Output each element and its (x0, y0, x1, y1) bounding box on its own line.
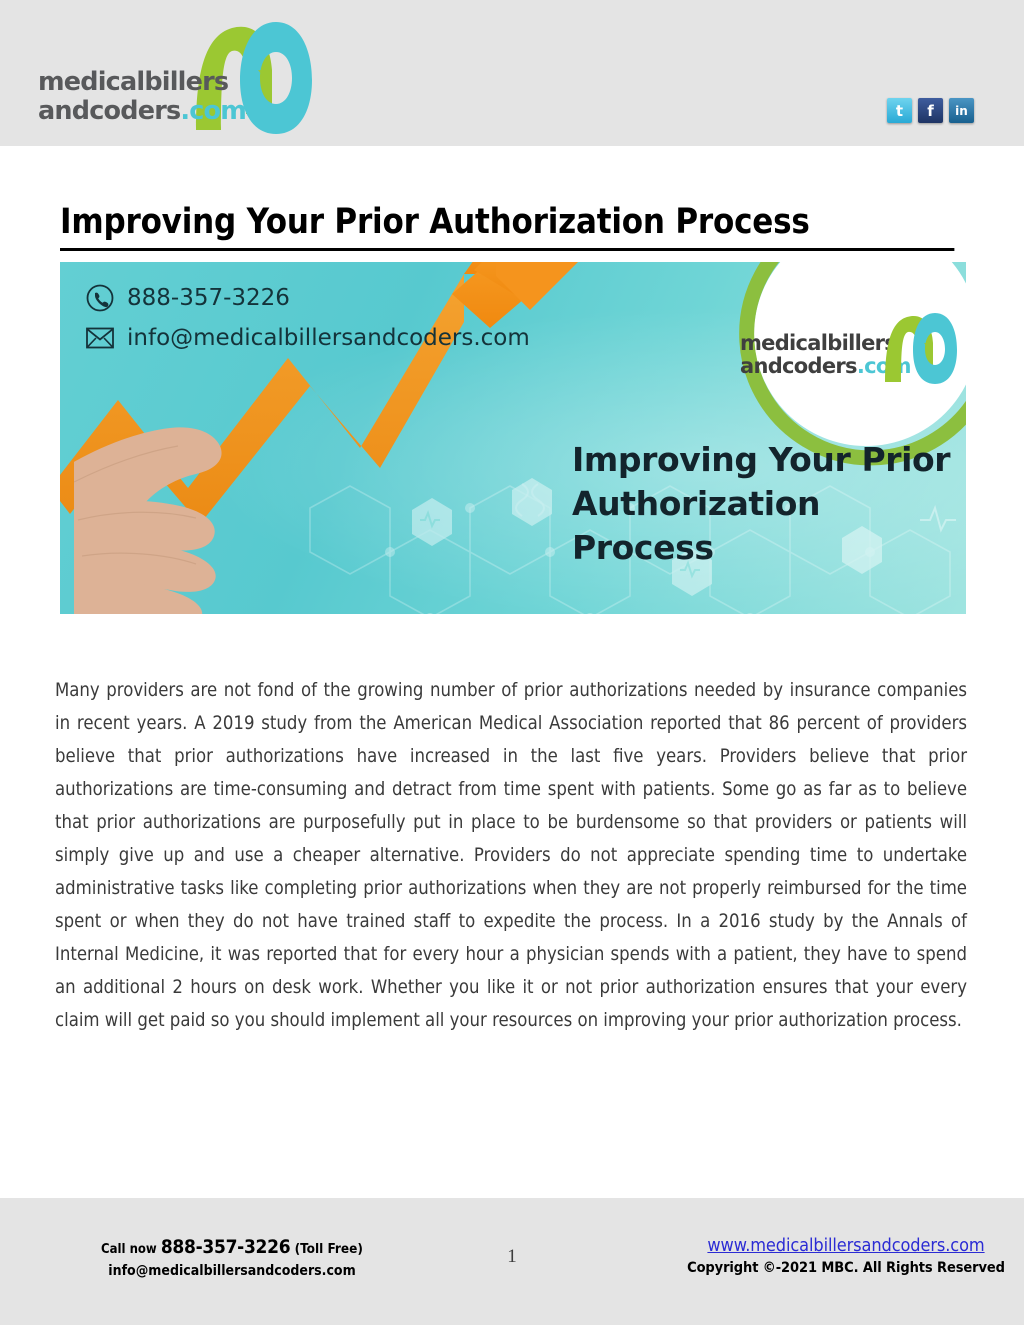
footer-brand: www.medicalbillersandcoders.com Copyrigh… (686, 1234, 1006, 1279)
banner-headline-line2: Authorization Process (572, 482, 966, 570)
page-footer: Call now 888-357-3226 (Toll Free) info@m… (0, 1198, 1024, 1325)
twitter-icon[interactable]: t (887, 98, 912, 123)
banner-headline-line1: Improving Your Prior (572, 438, 966, 482)
linkedin-icon[interactable]: in (949, 98, 974, 123)
hand-photo-graphic (74, 412, 404, 614)
copyright-text: Copyright ©-2021 MBC. All Rights Reserve… (686, 1258, 1006, 1279)
hero-banner-image: 888-357-3226 info@medicalbillersandcoder… (60, 262, 966, 614)
banner-logo-mark-icon (880, 310, 958, 386)
banner-phone-row: 888-357-3226 (86, 284, 530, 312)
page-title: Improving Your Prior Authorization Proce… (60, 200, 954, 251)
page-header: medicalbillers andcoders.com t f in (0, 0, 1024, 146)
banner-email-row: info@medicalbillersandcoders.com (86, 325, 530, 351)
facebook-icon[interactable]: f (918, 98, 943, 123)
company-logo: medicalbillers andcoders.com (38, 18, 313, 138)
logo-wordmark: medicalbillers andcoders.com (38, 68, 246, 126)
phone-icon (86, 284, 114, 312)
banner-logo: medicalbillers andcoders.com (740, 310, 948, 398)
banner-email-text: info@medicalbillersandcoders.com (127, 325, 530, 351)
website-link[interactable]: www.medicalbillersandcoders.com (686, 1234, 1006, 1258)
envelope-icon (86, 327, 114, 349)
banner-headline: Improving Your Prior Authorization Proce… (572, 438, 966, 570)
social-links: t f in (887, 98, 974, 123)
body-paragraph: Many providers are not fond of the growi… (55, 674, 967, 1037)
banner-phone-text: 888-357-3226 (127, 285, 290, 311)
banner-contact-block: 888-357-3226 info@medicalbillersandcoder… (86, 284, 530, 364)
document-page: medicalbillers andcoders.com t f in Impr… (0, 0, 1024, 1325)
